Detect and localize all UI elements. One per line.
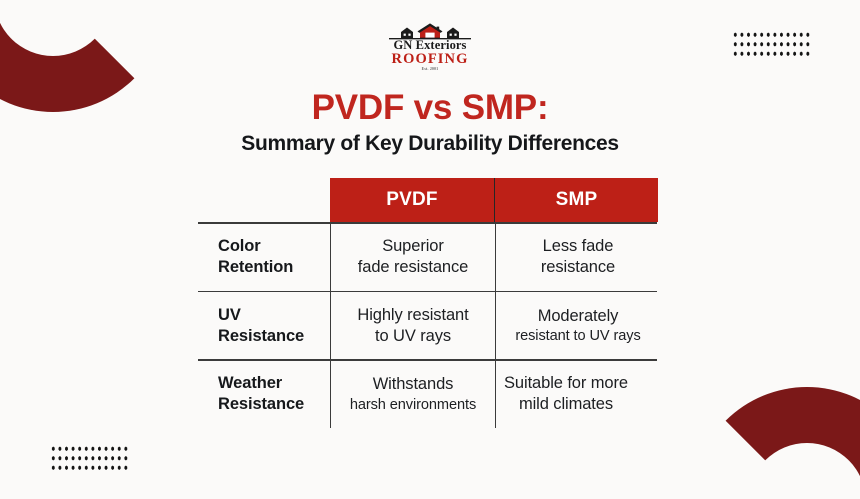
row-label: Weather Resistance (198, 361, 330, 428)
brand-logo: GN Exteriors ROOFING Est. 2001 (0, 23, 860, 71)
poster-canvas: GN Exteriors ROOFING Est. 2001 PVDF vs S… (0, 0, 860, 499)
cell-smp-line2: resistant to UV rays (515, 327, 640, 346)
cell-pvdf-line2: fade resistance (358, 257, 468, 278)
cell-pvdf-line1: Highly resistant (357, 305, 468, 326)
table-row: UV Resistance Highly resistant to UV ray… (198, 292, 660, 359)
column-header-pvdf: PVDF (330, 178, 494, 222)
table-header-row: PVDF SMP (330, 178, 658, 222)
row-label-line2: Resistance (218, 394, 330, 415)
cell-pvdf: Highly resistant to UV rays (330, 292, 495, 359)
column-header-smp: SMP (494, 178, 658, 222)
table-row: Weather Resistance Withstands harsh envi… (198, 361, 660, 428)
row-label-line1: UV (218, 305, 330, 326)
decorative-arc-bottom-right (692, 387, 860, 499)
cell-pvdf-line2: to UV rays (375, 326, 451, 347)
cell-smp-line1: Moderately (538, 306, 619, 327)
logo-text-primary: GN Exteriors (393, 39, 466, 52)
row-label-line2: Resistance (218, 326, 330, 347)
row-label-line1: Weather (218, 373, 330, 394)
row-label: UV Resistance (198, 292, 330, 359)
decorative-dot-grid-bottom-left (50, 444, 128, 472)
cell-pvdf: Superior fade resistance (330, 224, 495, 291)
row-label: Color Retention (198, 224, 330, 291)
cell-smp-line1: Suitable for more (471, 373, 661, 394)
cell-smp-line2: mild climates (471, 394, 661, 415)
cell-smp: Less fade resistance (495, 224, 660, 291)
cell-pvdf-line1: Superior (382, 236, 444, 257)
cell-pvdf-line1: Withstands (373, 374, 454, 395)
logo-text-secondary: ROOFING (392, 52, 469, 67)
cell-pvdf-line2: harsh environments (350, 396, 476, 415)
page-title: PVDF vs SMP: (0, 90, 860, 125)
row-label-line2: Retention (218, 257, 330, 278)
logo-text-established: Est. 2001 (422, 68, 439, 72)
cell-smp: Moderately resistant to UV rays (495, 292, 660, 359)
table-row: Color Retention Superior fade resistance… (198, 224, 660, 291)
comparison-table: PVDF SMP Color Retention Superior fade r… (198, 178, 660, 428)
cell-smp: Suitable for more mild climates (495, 361, 660, 428)
cell-smp-line2: resistance (541, 257, 615, 278)
row-label-line1: Color (218, 236, 330, 257)
page-subtitle: Summary of Key Durability Differences (0, 133, 860, 154)
cell-smp-line1: Less fade (543, 236, 614, 257)
